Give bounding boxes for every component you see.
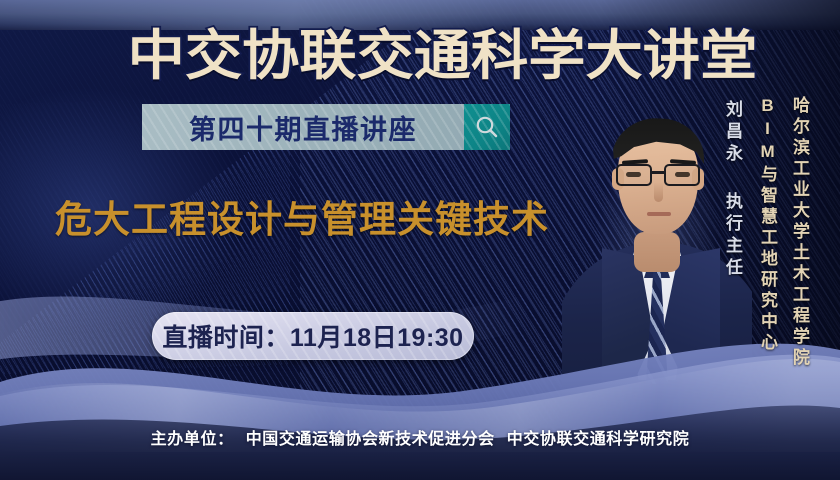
portrait-mouth [647,212,671,216]
footer-organizer-prefix: 主办单位： [151,431,234,448]
broadcast-time-badge: 直播时间：11月18日19:30 [152,312,474,360]
speaker-affiliation-school: 哈尔滨工业大学土木工程学院 [789,96,809,396]
search-icon [474,114,500,140]
episode-label: 第四十期直播讲座 [189,108,417,147]
footer-organizers: 主办单位：中国交通运输协会新技术促进分会中交协联交通科学研究院 [0,425,840,449]
glasses-bridge [652,171,666,174]
portrait-neck [634,232,680,272]
glasses-lens-left [616,164,652,186]
page-title: 中交协联交通科学大讲堂 [135,17,750,83]
glasses-lens-right [664,164,700,186]
footer-organizer-one: 中国交通运输协会新技术促进分会 [246,431,495,448]
lecture-subtitle: 危大工程设计与管理关键技术 [55,190,575,242]
livestream-poster: 中交协联交通科学大讲堂 第四十期直播讲座 危大工程设计与管理关键技术 直播时间：… [0,0,840,480]
search-button[interactable] [464,104,510,150]
episode-bar: 第四十期直播讲座 [142,104,464,150]
speaker-role: 执行主任 [722,192,742,342]
portrait-glasses [614,164,704,188]
broadcast-time-label: 直播时间：11月18日19:30 [162,318,463,354]
speaker-affiliation-center: BIM与智慧工地研究中心 [757,96,777,366]
footer-organizer-two: 中交协联交通科学研究院 [507,431,690,448]
